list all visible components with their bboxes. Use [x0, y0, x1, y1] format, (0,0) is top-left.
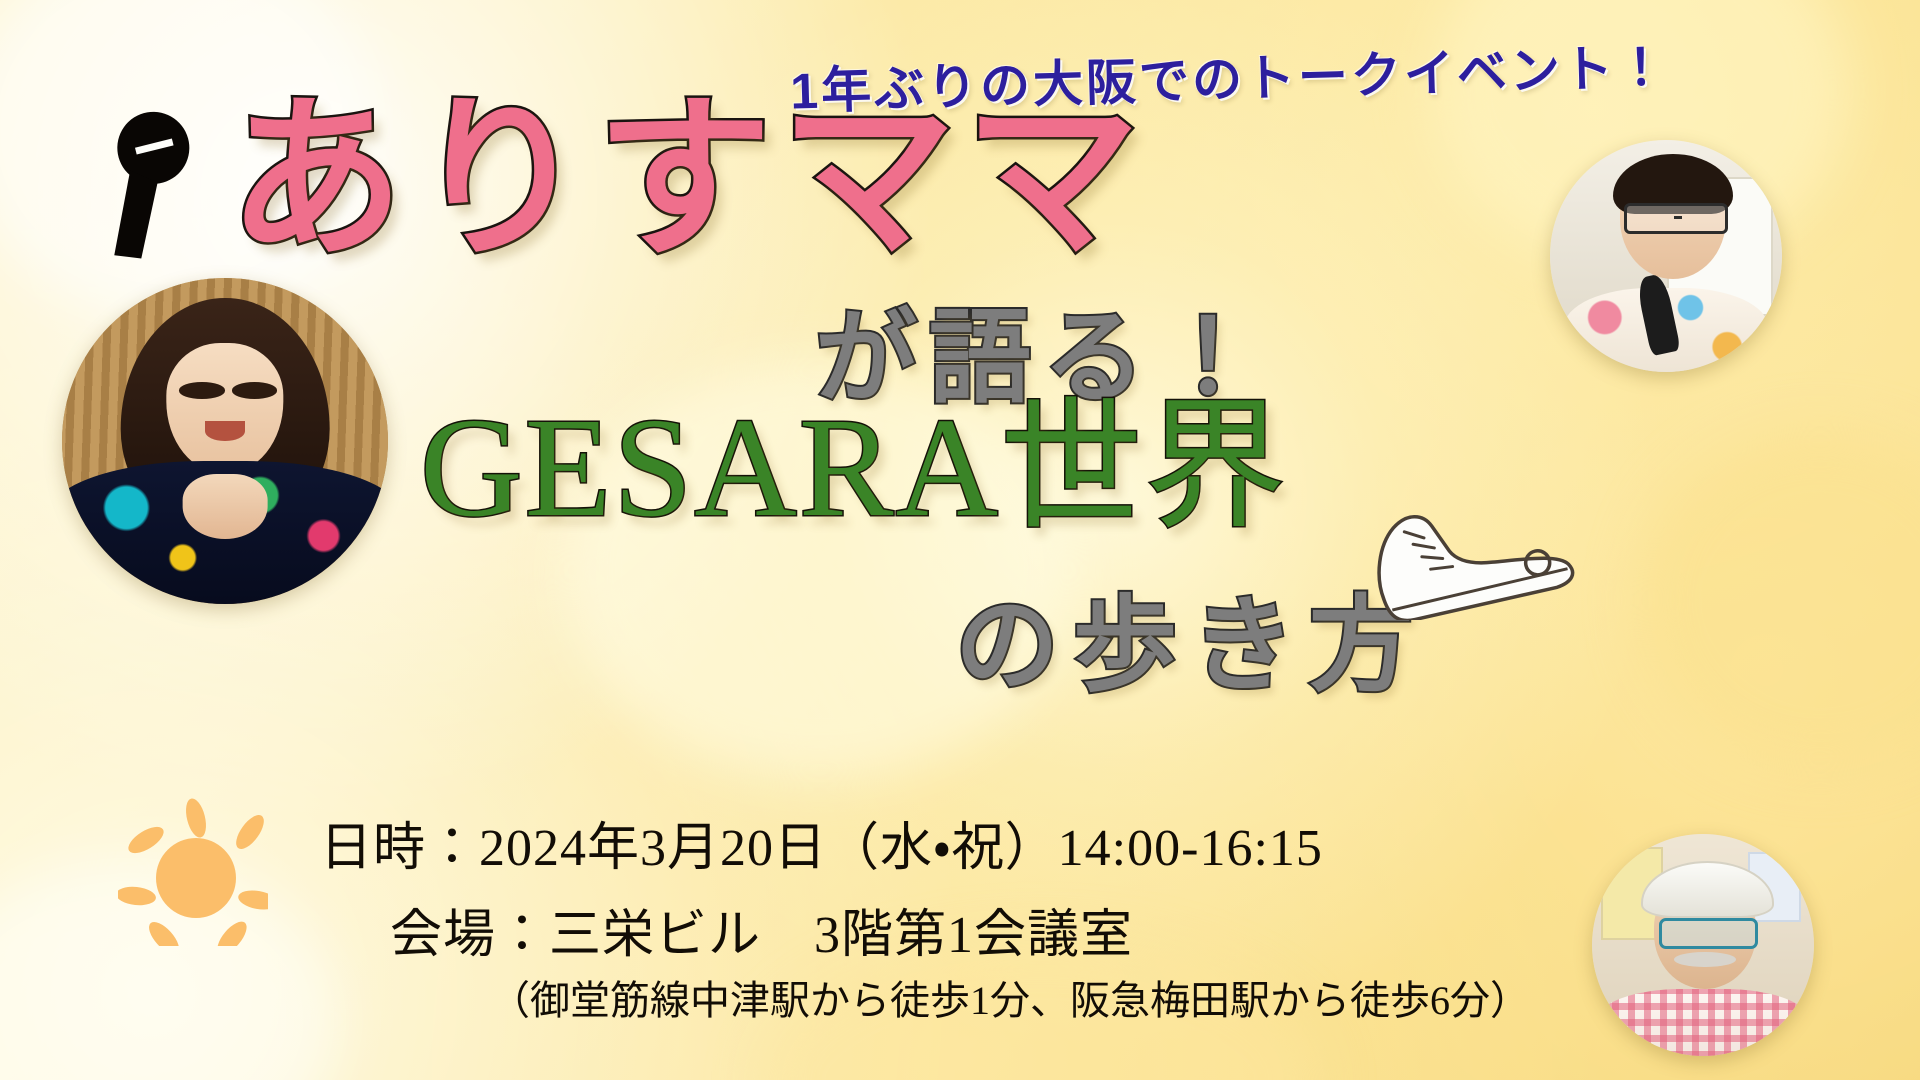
event-access-line: （御堂筋線中津駅から徒歩1分、阪急梅田駅から徒歩6分）	[490, 968, 1530, 1026]
subtitle-grey-line-2: の歩き方	[955, 560, 1427, 711]
avatar-male-speaker-bottom	[1592, 834, 1814, 1056]
page-title-green: GESARA世界	[420, 396, 1288, 538]
sneaker-icon	[1358, 484, 1588, 620]
bokeh-light-4	[1640, 430, 1920, 770]
avatar-eye-left	[179, 382, 225, 398]
avatar-moustache	[1674, 952, 1736, 968]
avatar-male-speaker-top	[1550, 140, 1782, 372]
poster-canvas: 1年ぶりの大阪でのトークイベント！ ありすママ が語る！ GESARA世界 の歩…	[0, 0, 1920, 1080]
avatar-arisu-mama	[62, 278, 388, 604]
avatar-eye-right	[232, 382, 278, 398]
page-title-pink: ありすママ	[228, 92, 1148, 268]
avatar-hands	[183, 474, 268, 539]
microphone-icon	[86, 104, 206, 264]
avatar-glasses	[1659, 918, 1758, 948]
avatar-shirt	[1596, 989, 1809, 1056]
avatar-glasses	[1624, 203, 1727, 235]
avatar-mouth	[205, 421, 244, 441]
sun-icon	[118, 796, 268, 946]
event-date-line: 日時：2024年3月20日（水・祝）14:00-16:15	[320, 805, 1323, 880]
event-venue-line: 会場：三栄ビル 3階第1会議室	[390, 892, 1133, 967]
